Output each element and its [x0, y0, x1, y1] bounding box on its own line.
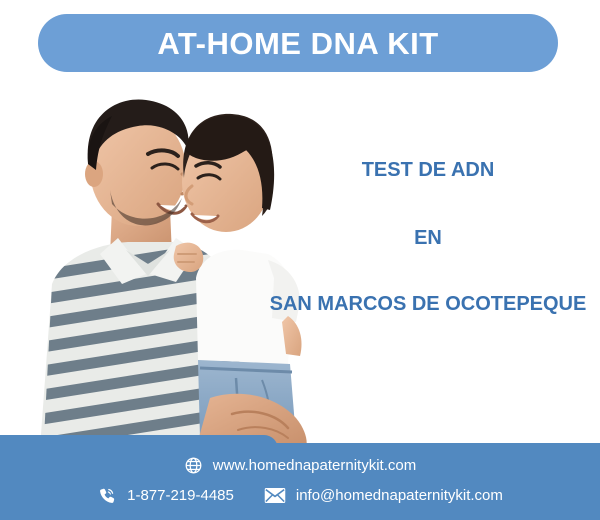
website-label: www.homednapaternitykit.com	[213, 458, 416, 473]
headline-line-1: TEST DE ADN	[248, 160, 600, 180]
footer-website-row: www.homednapaternitykit.com	[184, 456, 416, 475]
phone-label: 1-877-219-4485	[127, 488, 234, 503]
footer-contact-row: 1-877-219-4485 info@homednapaternitykit.…	[97, 486, 503, 506]
phone-icon	[97, 486, 117, 506]
phone-item[interactable]: 1-877-219-4485	[97, 486, 234, 506]
website-item[interactable]: www.homednapaternitykit.com	[184, 456, 416, 475]
email-label: info@homednapaternitykit.com	[296, 488, 503, 503]
headline-block: TEST DE ADN EN SAN MARCOS DE OCOTEPEQUE	[248, 160, 600, 314]
globe-icon	[184, 456, 203, 475]
email-item[interactable]: info@homednapaternitykit.com	[264, 487, 503, 504]
dna-kit-poster: AT-HOME DNA KIT	[0, 0, 600, 520]
headline-line-2: EN	[248, 228, 600, 248]
page-title: AT-HOME DNA KIT	[157, 28, 438, 59]
envelope-icon	[264, 487, 286, 504]
footer-contact-info: www.homednapaternitykit.com 1-877-219-44…	[0, 435, 600, 520]
header-banner: AT-HOME DNA KIT	[38, 14, 558, 72]
headline-line-3-location: SAN MARCOS DE OCOTEPEQUE	[248, 294, 600, 314]
footer-band: www.homednapaternitykit.com 1-877-219-44…	[0, 435, 600, 520]
